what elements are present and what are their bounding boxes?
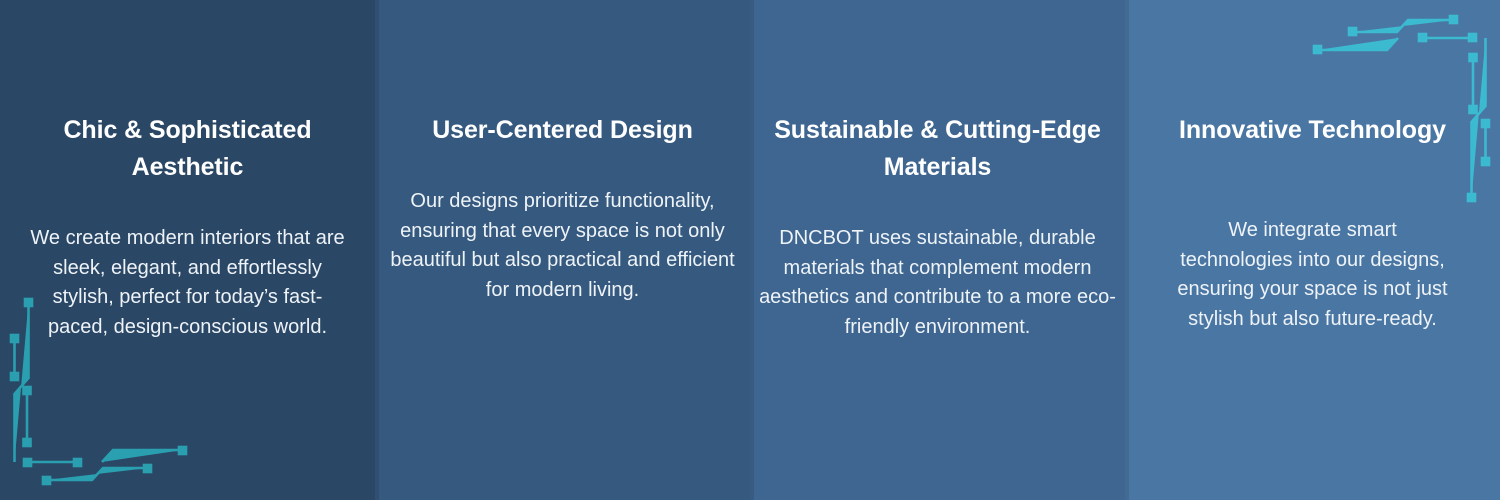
feature-panel-1: Chic & Sophisticated Aesthetic We create…: [0, 0, 375, 500]
panel-title: Innovative Technology: [1125, 112, 1500, 149]
panel-body: DNCBOT uses sustainable, durable materia…: [750, 224, 1125, 342]
circuit-trace-top-right-icon: [1290, 0, 1500, 210]
panel-title: User-Centered Design: [375, 112, 750, 149]
feature-panel-4: Innovative Technology We integrate smart…: [1125, 0, 1500, 500]
panel-title: Chic & Sophisticated Aesthetic: [0, 112, 375, 186]
panel-body: Our designs prioritize functionality, en…: [375, 187, 750, 305]
feature-panel-board: Chic & Sophisticated Aesthetic We create…: [0, 0, 1500, 500]
panel-body: We integrate smart technologies into our…: [1125, 216, 1500, 334]
feature-panel-3: Sustainable & Cutting-Edge Materials DNC…: [750, 0, 1125, 500]
panel-body: We create modern interiors that are slee…: [0, 224, 375, 342]
feature-panel-2: User-Centered Design Our designs priorit…: [375, 0, 750, 500]
panel-title: Sustainable & Cutting-Edge Materials: [750, 112, 1125, 186]
